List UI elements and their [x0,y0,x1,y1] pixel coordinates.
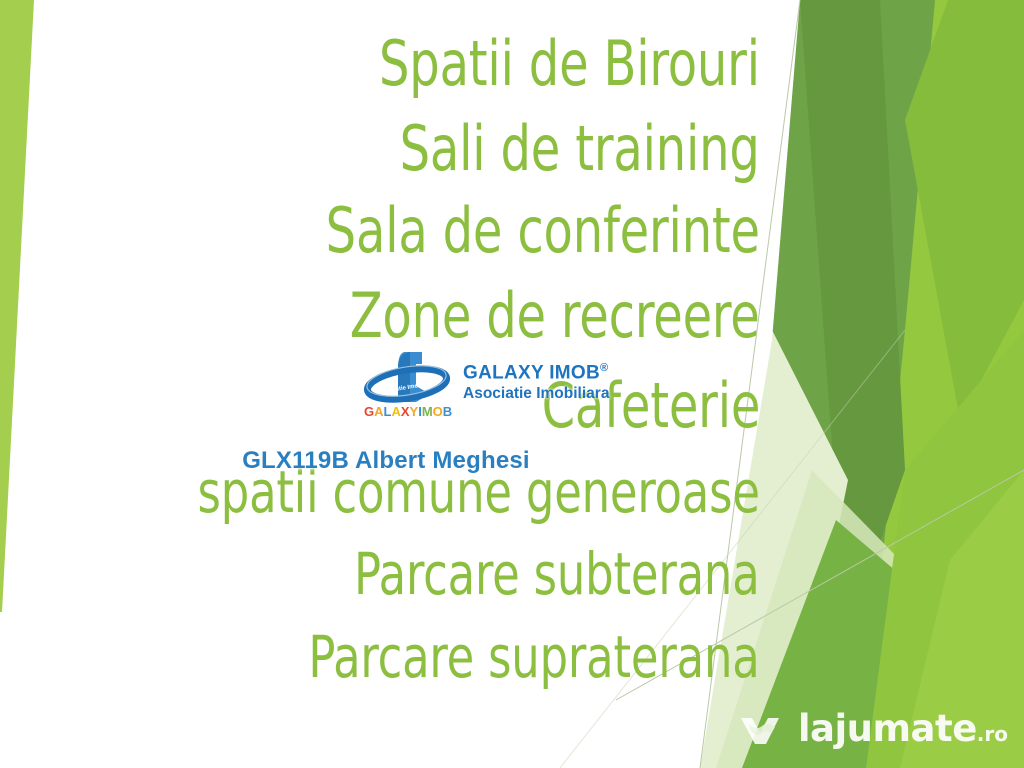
lajumate-watermark: lajumate.ro [739,708,1008,754]
presentation-slide: Spatii de Birouri Sali de training Sala … [0,0,1024,768]
slide-background [0,0,1024,768]
lajumate-tld: .ro [977,722,1008,746]
lajumate-name: lajumate [798,707,977,750]
lajumate-wordmark: lajumate.ro [798,710,1008,753]
handshake-w-icon [739,714,789,748]
